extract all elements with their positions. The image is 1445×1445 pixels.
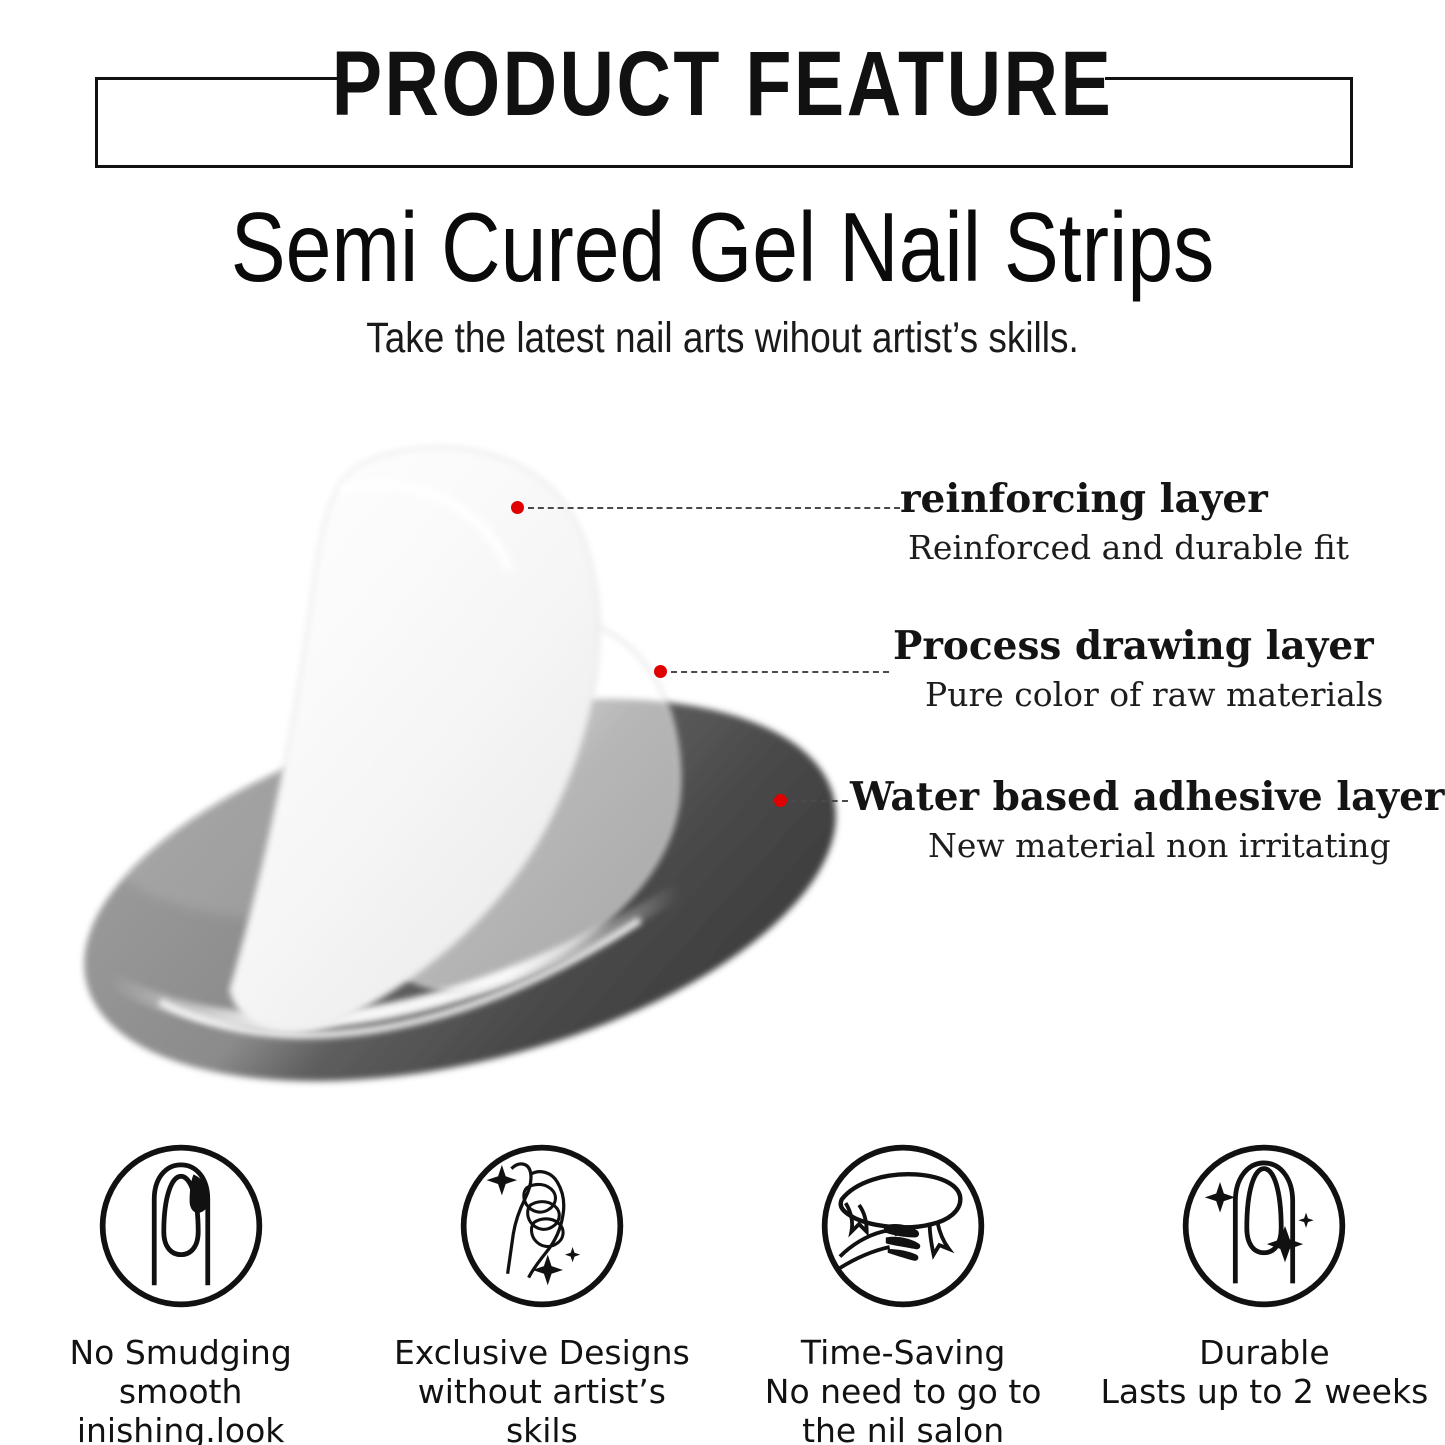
callout-title: Process drawing layer	[893, 625, 1383, 669]
callout-subtitle: New material non irritating	[928, 826, 1444, 866]
page-eyebrow-title: PRODUCT FEATURE	[130, 38, 1315, 130]
leader-line-reinforcing	[528, 507, 900, 509]
feature-subtitle: Lasts up to 2 weeks	[1100, 1373, 1428, 1412]
callout-subtitle: Reinforced and durable fit	[908, 528, 1349, 568]
long-nail-sparkle-icon	[1178, 1140, 1350, 1312]
callout-process-drawing-layer: Process drawing layer Pure color of raw …	[893, 625, 1383, 714]
feature-title: Time-Saving	[801, 1334, 1005, 1373]
anchor-dot-reinforcing	[511, 501, 524, 514]
page-subtitle: Take the latest nail arts wihout artist’…	[101, 313, 1344, 365]
product-layer-illustration	[40, 420, 880, 1120]
callout-title: reinforcing layer	[900, 478, 1349, 522]
nail-polish-smudge-icon	[95, 1140, 267, 1312]
feature-item: Exclusive Designs without artist’s skils	[361, 1140, 722, 1445]
anchor-dot-adhesive	[774, 794, 787, 807]
page-title: Semi Cured Gel Nail Strips	[116, 195, 1330, 301]
feature-subtitle: without artist’s skils	[377, 1373, 707, 1445]
uv-nail-lamp-hand-icon	[817, 1140, 989, 1312]
leader-line-process	[671, 671, 889, 673]
feature-subtitle: smooth inishing.look	[16, 1373, 346, 1445]
leader-line-adhesive	[790, 800, 848, 802]
feature-badge-row: No Smudging smooth inishing.look Exclusi…	[0, 1140, 1445, 1445]
manicured-hand-sparkle-icon	[456, 1140, 628, 1312]
callout-subtitle: Pure color of raw materials	[925, 675, 1383, 715]
feature-item: No Smudging smooth inishing.look	[0, 1140, 361, 1445]
product-feature-infographic: PRODUCT FEATURE Semi Cured Gel Nail Stri…	[0, 0, 1445, 1445]
feature-title: No Smudging	[69, 1334, 291, 1373]
callout-title: Water based adhesive layer	[850, 776, 1444, 820]
feature-item: Durable Lasts up to 2 weeks	[1084, 1140, 1445, 1445]
feature-item: Time-Saving No need to go to the nil sal…	[723, 1140, 1084, 1445]
feature-title: Durable	[1199, 1334, 1330, 1373]
anchor-dot-process	[654, 665, 667, 678]
feature-subtitle: No need to go to the nil salon	[738, 1373, 1068, 1445]
callout-reinforcing-layer: reinforcing layer Reinforced and durable…	[900, 478, 1349, 567]
feature-title: Exclusive Designs	[394, 1334, 690, 1373]
callout-water-based-adhesive-layer: Water based adhesive layer New material …	[850, 776, 1444, 865]
